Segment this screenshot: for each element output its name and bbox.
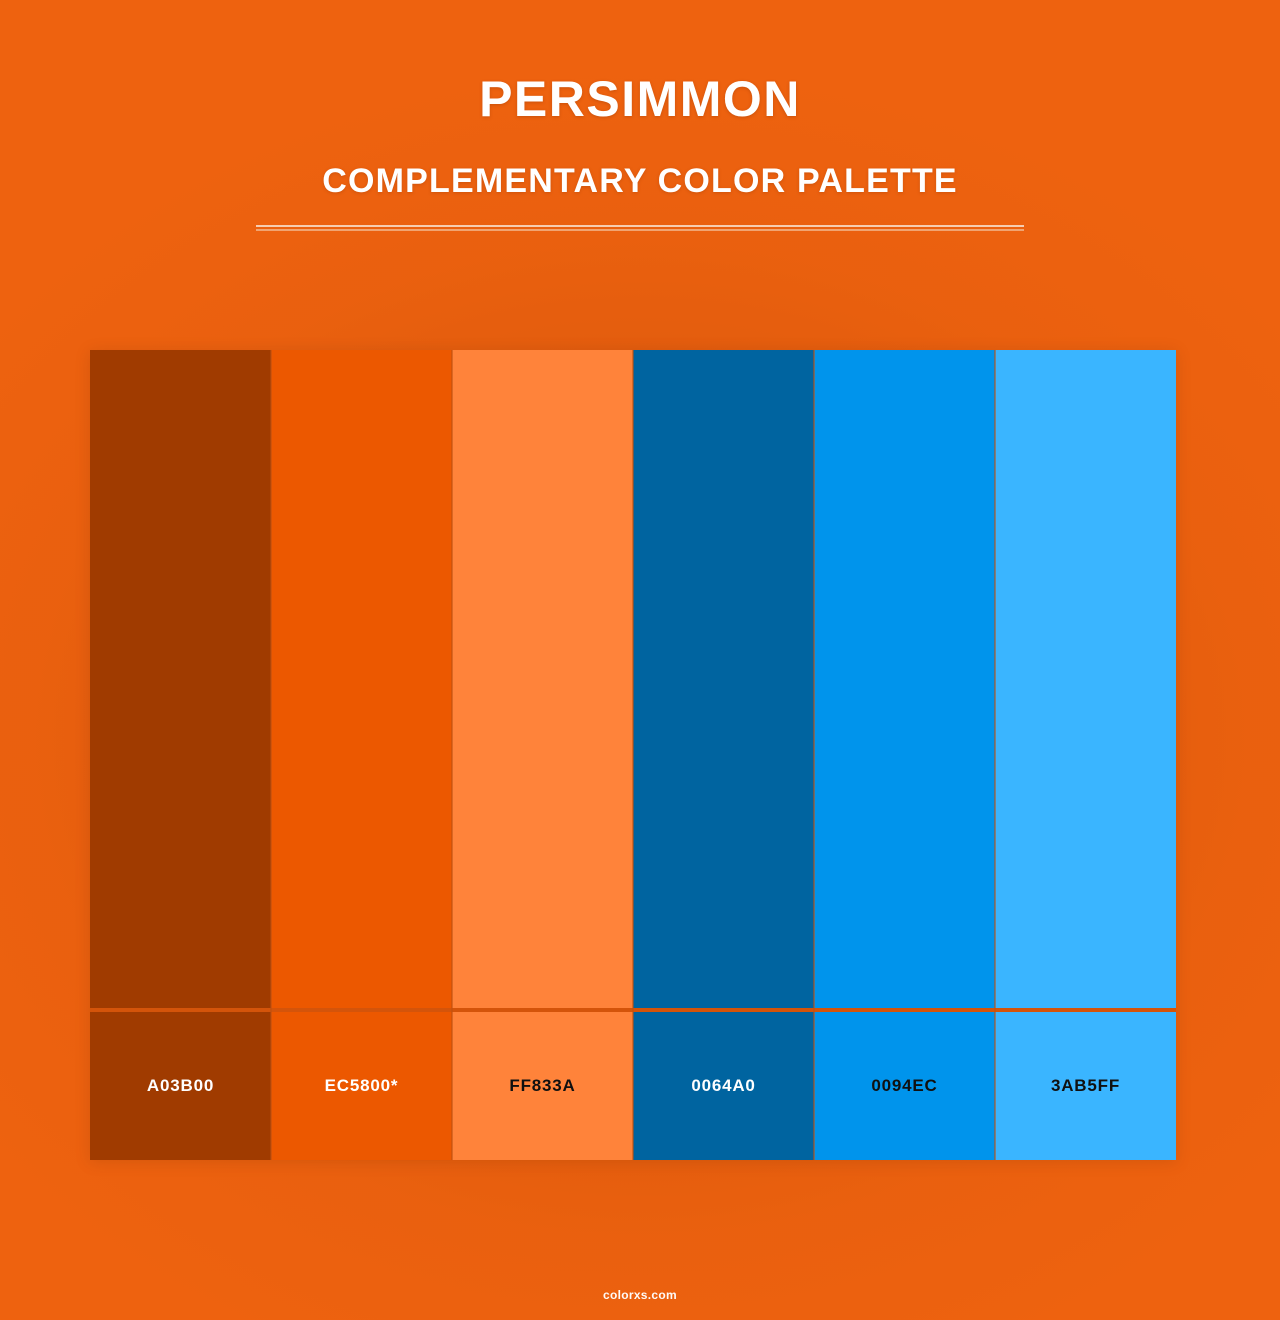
swatch-color-block[interactable] [633,350,814,1008]
footer: colorxs.com [0,1286,1280,1304]
swatch-column-ec5800[interactable]: EC5800* [271,350,452,1160]
swatch-color-block[interactable] [814,350,995,1008]
swatch-hex-label: A03B00 [147,1076,214,1096]
swatch-hex-label: 0064A0 [691,1076,755,1096]
swatch-color-block[interactable] [90,350,271,1008]
swatch-column-0094ec[interactable]: 0094EC [814,350,995,1160]
page-subtitle: COMPLEMENTARY COLOR PALETTE [0,164,1280,198]
swatch-hex-label: 3AB5FF [1051,1076,1120,1096]
swatch-label-area[interactable]: A03B00 [90,1012,271,1160]
color-palette: A03B00EC5800*FF833A0064A00094EC3AB5FF [90,350,1176,1160]
swatch-color-block[interactable] [995,350,1176,1008]
swatch-color-block[interactable] [452,350,633,1008]
divider-line-top [256,225,1024,227]
swatch-hex-label: FF833A [509,1076,575,1096]
footer-site-label: colorxs.com [603,1288,677,1302]
swatch-label-area[interactable]: EC5800* [271,1012,452,1160]
divider-line-bottom [256,229,1024,231]
header-divider [256,225,1024,231]
swatch-label-area[interactable]: 0094EC [814,1012,995,1160]
swatch-column-a03b00[interactable]: A03B00 [90,350,271,1160]
swatch-hex-label: 0094EC [871,1076,937,1096]
page-title: PERSIMMON [0,74,1280,124]
swatch-label-area[interactable]: 3AB5FF [995,1012,1176,1160]
swatch-label-area[interactable]: 0064A0 [633,1012,814,1160]
swatch-color-block[interactable] [271,350,452,1008]
header: PERSIMMON COMPLEMENTARY COLOR PALETTE [0,0,1280,231]
swatch-column-3ab5ff[interactable]: 3AB5FF [995,350,1176,1160]
swatch-label-area[interactable]: FF833A [452,1012,633,1160]
swatch-hex-label: EC5800* [325,1076,399,1096]
swatch-column-0064a0[interactable]: 0064A0 [633,350,814,1160]
swatch-column-ff833a[interactable]: FF833A [452,350,633,1160]
